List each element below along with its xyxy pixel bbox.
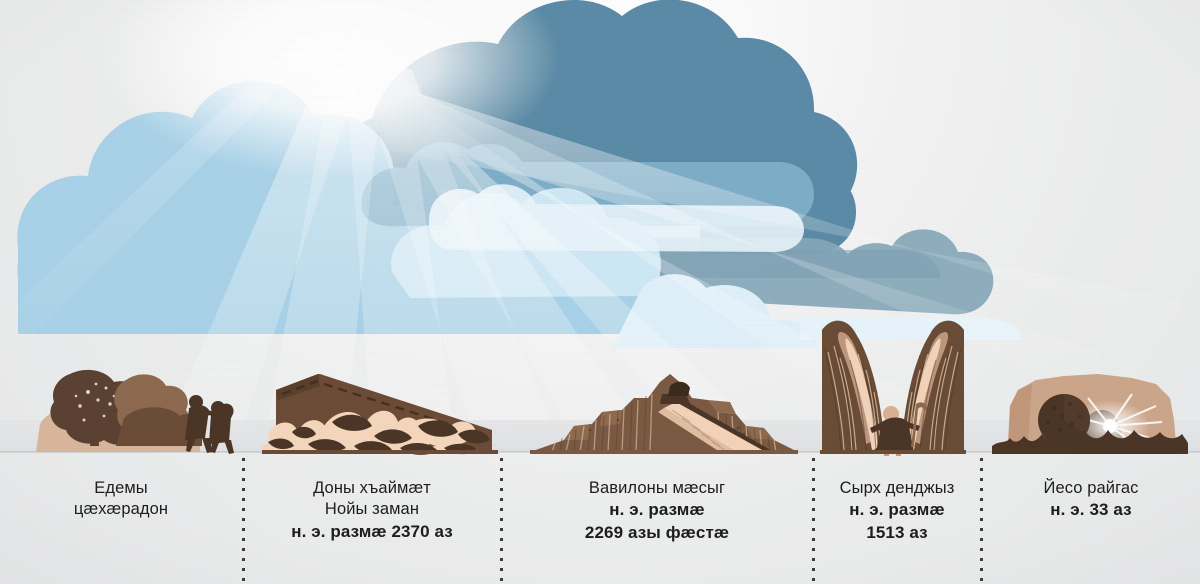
caption-resurrection-line1: Йесо райгас [982, 478, 1200, 499]
caption-redsea-line1: Сырх денджыз [814, 478, 980, 499]
caption-flood-date: н. э. размæ 2370 аз [244, 521, 500, 543]
red-sea-parting-icon [820, 321, 966, 456]
scene-flood [262, 372, 498, 454]
noahs-ark-icon [262, 374, 498, 455]
tower-of-babel-icon [530, 374, 798, 454]
scene-babel [530, 368, 798, 454]
eden-garden-icon [36, 370, 234, 454]
empty-tomb-icon [992, 374, 1188, 454]
caption-redsea-date1: н. э. размæ [814, 499, 980, 521]
scene-redsea [820, 308, 966, 454]
scene-resurrection [992, 372, 1188, 454]
caption-resurrection-date: н. э. 33 аз [982, 499, 1200, 521]
eden-figure-woman [209, 401, 234, 454]
caption-eden-line2: цæхæрадон [0, 499, 242, 520]
scene-eden [18, 366, 238, 454]
caption-flood[interactable]: Доны хъаймæт Нойы заман н. э. размæ 2370… [244, 478, 500, 543]
caption-babel-date2: 2269 азы фæстæ [502, 522, 812, 544]
caption-eden[interactable]: Едемы цæхæрадон [0, 478, 242, 521]
caption-babel-line1: Вавилоны мæсыг [502, 478, 812, 499]
caption-babel[interactable]: Вавилоны мæсыг н. э. размæ 2269 азы фæст… [502, 478, 812, 544]
caption-babel-date1: н. э. размæ [502, 499, 812, 521]
caption-flood-line1: Доны хъаймæт [244, 478, 500, 499]
caption-redsea[interactable]: Сырх денджыз н. э. размæ 1513 аз [814, 478, 980, 544]
caption-eden-line1: Едемы [0, 478, 242, 499]
infographic-canvas: Едемы цæхæрадон Доны хъаймæт Нойы заман … [0, 0, 1200, 584]
caption-flood-line2: Нойы заман [244, 499, 500, 520]
caption-resurrection[interactable]: Йесо райгас н. э. 33 аз [982, 478, 1200, 522]
caption-redsea-date2: 1513 аз [814, 522, 980, 544]
